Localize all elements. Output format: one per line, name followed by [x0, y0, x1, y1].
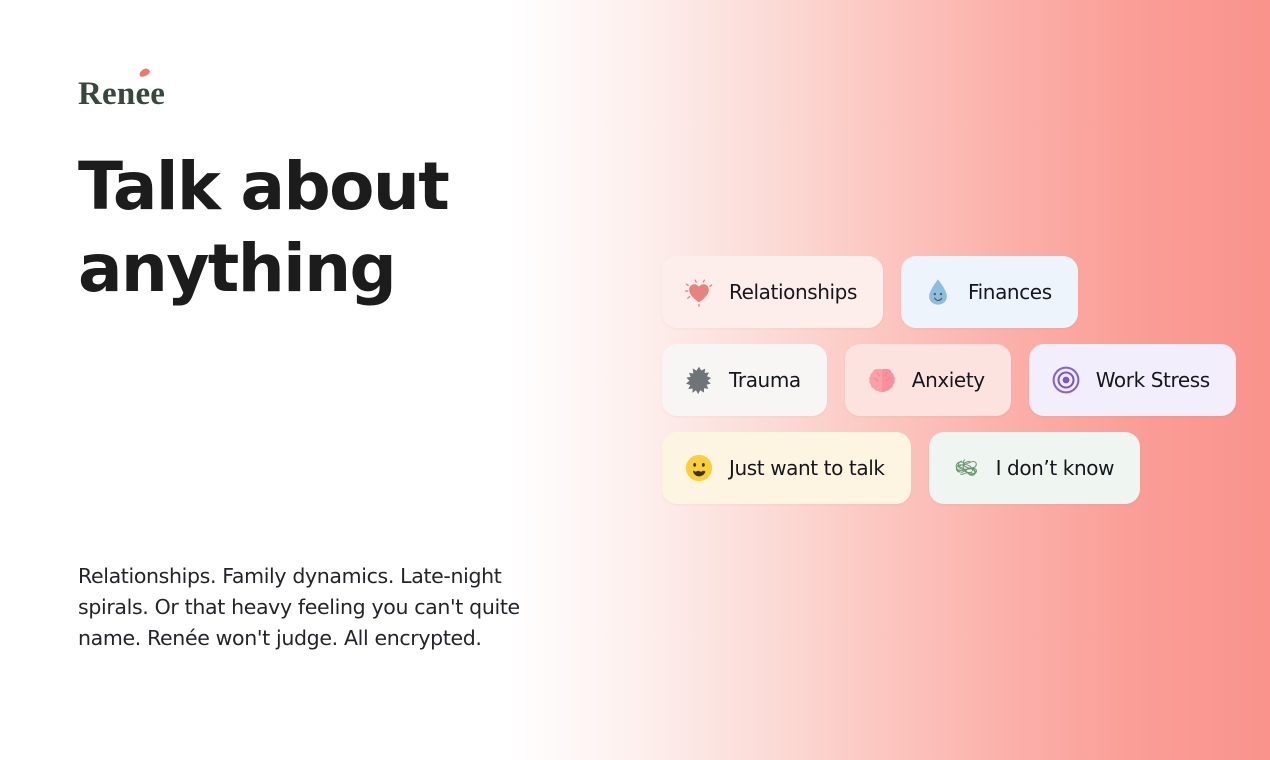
topic-chip-just-want-to-talk[interactable]: Just want to talk — [662, 432, 911, 504]
left-content-column: Renee Talk about anything Relationships.… — [78, 0, 598, 760]
green-scribble-icon — [951, 453, 981, 483]
brand-accent-letter: e — [135, 78, 150, 111]
topic-chip-row: Relationships Finances — [662, 256, 1242, 328]
topic-chip-label: Trauma — [729, 368, 801, 392]
bullseye-target-icon — [1051, 365, 1081, 395]
topic-chip-anxiety[interactable]: Anxiety — [845, 344, 1011, 416]
topic-chip-label: Work Stress — [1096, 368, 1210, 392]
topic-chip-row: Just want to talk I don’t know — [662, 432, 1242, 504]
topic-chip-label: Anxiety — [912, 368, 985, 392]
brand-name-suffix: e — [150, 76, 165, 112]
landing-page: Renee Talk about anything Relationships.… — [0, 0, 1270, 760]
droplet-face-icon — [923, 277, 953, 307]
gray-burst-cloud-icon — [684, 365, 714, 395]
brand-accent-letter-glyph: e — [135, 76, 150, 112]
topic-chip-trauma[interactable]: Trauma — [662, 344, 827, 416]
page-description: Relationships. Family dynamics. Late-nig… — [78, 561, 574, 654]
topic-chip-row: Trauma Anxiety — [662, 344, 1242, 416]
brand-logo[interactable]: Renee — [78, 78, 165, 111]
topic-chip-label: Finances — [968, 280, 1052, 304]
sparkling-heart-icon — [684, 277, 714, 307]
topic-chip-finances[interactable]: Finances — [901, 256, 1078, 328]
brand-name-prefix: Ren — [78, 76, 135, 112]
topic-chip-relationships[interactable]: Relationships — [662, 256, 883, 328]
page-title: Talk about anything — [78, 146, 548, 310]
topic-chip-label: Relationships — [729, 280, 857, 304]
topic-chip-i-dont-know[interactable]: I don’t know — [929, 432, 1140, 504]
topic-chip-label: I don’t know — [996, 456, 1114, 480]
smiley-face-icon — [684, 453, 714, 483]
brain-icon — [867, 365, 897, 395]
topic-chip-group: Relationships Finances Trauma — [662, 256, 1242, 520]
topic-chip-work-stress[interactable]: Work Stress — [1029, 344, 1236, 416]
topic-chip-label: Just want to talk — [729, 456, 885, 480]
